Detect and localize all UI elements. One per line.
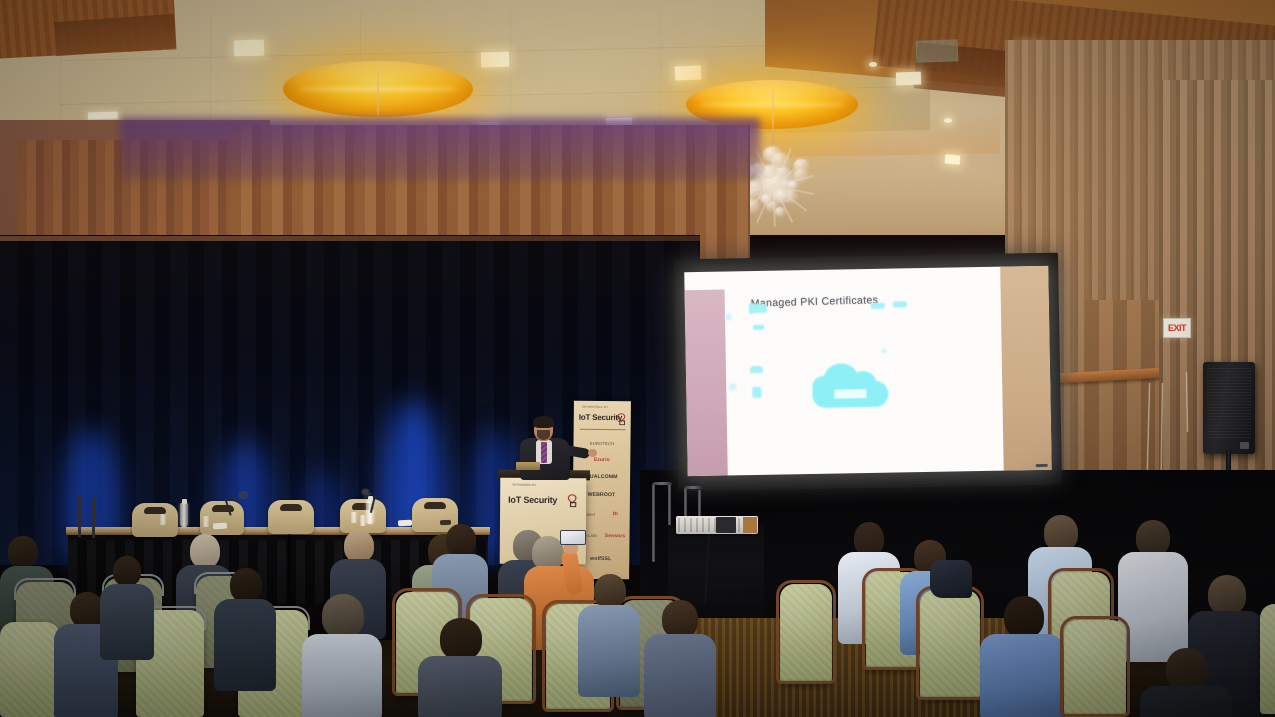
recessed-light [896, 72, 921, 86]
smartphone-camera [560, 530, 586, 545]
audience-person [1140, 648, 1232, 717]
audience-chair-frame [916, 586, 984, 700]
stage-backdrop-top-edge [0, 236, 700, 241]
presenter-hair [533, 416, 554, 428]
audience-chair-frame [1060, 616, 1130, 717]
exit-sign-label: EXIT [1168, 324, 1186, 333]
drinking-glass [351, 512, 357, 523]
audience-person [214, 568, 276, 688]
slide-letterbox-right [1000, 266, 1052, 471]
audience-person [578, 574, 640, 694]
presenter-beard [537, 430, 550, 440]
ceiling-light-strip [88, 111, 118, 119]
drinking-glass [360, 515, 366, 526]
presenter-person [516, 418, 586, 478]
audience-person [418, 618, 502, 717]
recessed-light [945, 154, 961, 164]
av-unit-side-panel [743, 517, 757, 533]
certificate-icon [749, 303, 753, 314]
water-bottle [180, 503, 188, 527]
pa-loudspeaker [1203, 362, 1255, 454]
stage-handrail-curve [652, 482, 672, 485]
microphone [360, 489, 382, 513]
audience-person [302, 594, 382, 717]
audience-chair [1260, 604, 1275, 714]
slide-title: Managed PKI Certificates [751, 294, 879, 310]
audience-chair [0, 622, 60, 717]
gateway-icon [750, 366, 763, 373]
podium-brand: IoT Security [508, 495, 557, 505]
node-icon [725, 313, 732, 320]
projection-screen-surface: Managed PKI Certificates [684, 266, 1052, 476]
stage-handrail [652, 484, 655, 562]
drinking-glass [160, 514, 166, 525]
certificate-icon [751, 304, 767, 313]
sponsor-logo: DI [587, 511, 631, 518]
speaker-badge [1240, 442, 1249, 449]
recessed-light [481, 52, 510, 68]
exit-sign: EXIT [1163, 318, 1191, 338]
device-in-cloud-icon [834, 389, 866, 399]
ceiling-downlight [869, 62, 877, 67]
lock-icon [616, 412, 627, 424]
ceiling-air-vent [916, 39, 959, 62]
projection-screen: Managed PKI Certificates [674, 253, 1062, 492]
audience-chair-frame [776, 580, 836, 684]
audience-person [644, 600, 716, 717]
presenter-hand [588, 449, 597, 457]
microphone [226, 492, 250, 516]
cloud-icon [812, 359, 889, 408]
stage-rail-left [92, 498, 95, 538]
banner-top-mark: SPONSORED BY [582, 405, 608, 409]
podium-top-mark: SPONSORED BY [512, 483, 536, 487]
audience-person [100, 556, 154, 656]
badge-icon [753, 325, 764, 330]
av-rack-unit [676, 516, 758, 534]
panel-chair [268, 500, 314, 534]
conference-photo-scene: EXIT Managed PKI Certificates [0, 0, 1275, 717]
audience-person [980, 596, 1064, 717]
sensor-icon [729, 383, 736, 390]
napkin [398, 520, 412, 527]
backpack [930, 560, 972, 598]
lock-icon [566, 494, 578, 507]
pendant-rod-right [772, 90, 774, 152]
banner-divider [580, 429, 626, 430]
recessed-light [234, 39, 265, 56]
presenter-tie [541, 442, 547, 463]
arrow-icon [893, 301, 907, 307]
head-table-seam [288, 528, 291, 602]
dot-icon [882, 349, 887, 354]
av-unit-display [716, 517, 736, 533]
screen-status-led [1036, 464, 1048, 467]
slide-letterbox-left [685, 289, 728, 476]
stage-handrail-curve [684, 486, 702, 489]
panel-chair [132, 503, 178, 537]
ceiling-downlight [944, 118, 952, 123]
napkin [213, 523, 227, 530]
stage-rail-left [78, 495, 81, 537]
drinking-glass [203, 516, 209, 527]
arrow-icon [871, 303, 885, 309]
sensor-icon [752, 387, 761, 398]
wall-purple-uplight-wash [120, 118, 760, 180]
speaker-grill [1207, 367, 1251, 438]
podium-laptop [516, 462, 540, 470]
